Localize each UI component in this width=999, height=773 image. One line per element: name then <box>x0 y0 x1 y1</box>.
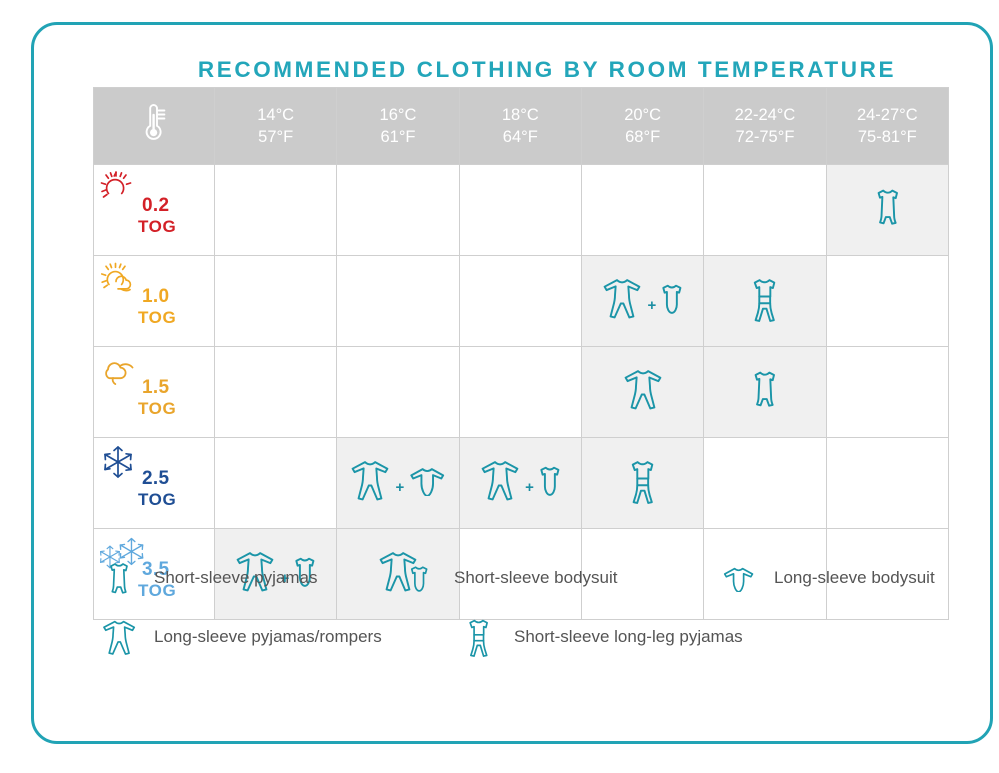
col-fahrenheit: 72-75°F <box>704 126 825 148</box>
garment-combo <box>582 367 703 416</box>
long-sleeve-pyjamas-icon <box>348 458 392 507</box>
garment-combo <box>827 186 948 233</box>
legend-item: Long-sleeve bodysuit <box>712 565 935 592</box>
cell-tog-1.0-col-2[interactable] <box>459 256 581 347</box>
row-header-tog-0.2: 0.2TOG <box>94 165 215 256</box>
table-row: 2.5TOG++ <box>94 438 949 529</box>
guide-card: RECOMMENDED CLOTHING BY ROOM TEMPERATURE… <box>31 22 993 744</box>
clothing-temperature-table: 14°C 57°F 16°C 61°F 18°C 64°F 20°C 68°F … <box>93 87 949 620</box>
tog-value: 1.0 <box>142 286 169 308</box>
tog-unit: TOG <box>138 490 176 510</box>
garment-combo <box>704 368 825 415</box>
plus-symbol: + <box>646 297 657 314</box>
garment-combo <box>582 458 703 509</box>
legend-item: Short-sleeve pyjamas <box>92 560 392 597</box>
short-sleeve-pyjamas-icon <box>751 368 779 415</box>
cell-tog-1.5-col-5[interactable] <box>826 347 948 438</box>
col-celsius: 24-27°C <box>857 106 918 124</box>
cell-tog-1.0-col-5[interactable] <box>826 256 948 347</box>
short-sleeve-pyjamas-icon <box>874 186 902 233</box>
row-header-tog-1.0: 1.0TOG <box>94 256 215 347</box>
tog-value: 1.5 <box>142 377 169 399</box>
cell-tog-1.5-col-2[interactable] <box>459 347 581 438</box>
col-celsius: 16°C <box>380 106 417 124</box>
tog-unit: TOG <box>138 399 176 419</box>
column-header-4: 22-24°C 72-75°F <box>704 88 826 165</box>
cell-tog-0.2-col-1[interactable] <box>337 165 459 256</box>
col-celsius: 18°C <box>502 106 539 124</box>
header-row: 14°C 57°F 16°C 61°F 18°C 64°F 20°C 68°F … <box>94 88 949 165</box>
col-celsius: 22-24°C <box>735 106 796 124</box>
table-body: 0.2TOG1.0TOG+1.5TOG2.5TOG++3.5TOG+ <box>94 165 949 620</box>
cell-tog-2.5-col-5[interactable] <box>826 438 948 529</box>
cell-tog-2.5-col-2[interactable]: + <box>459 438 581 529</box>
table-row: 0.2TOG <box>94 165 949 256</box>
short-sleeve-bodysuit-icon <box>537 464 563 502</box>
cell-tog-1.5-col-0[interactable] <box>215 347 337 438</box>
short-sleeve-long-leg-pyjamas-icon <box>628 458 657 509</box>
thermometer-icon <box>94 88 215 165</box>
legend-label: Long-sleeve pyjamas/rompers <box>146 627 382 647</box>
cell-tog-0.2-col-3[interactable] <box>581 165 703 256</box>
legend-label: Short-sleeve bodysuit <box>446 568 617 588</box>
cell-tog-2.5-col-0[interactable] <box>215 438 337 529</box>
cell-tog-2.5-col-4[interactable] <box>704 438 826 529</box>
col-celsius: 14°C <box>257 106 294 124</box>
col-fahrenheit: 61°F <box>337 126 458 148</box>
sun-icon <box>100 171 134 210</box>
short-sleeve-bodysuit-icon <box>659 282 685 320</box>
cell-tog-2.5-col-1[interactable]: + <box>337 438 459 529</box>
long-sleeve-pyjamas-icon <box>92 618 146 656</box>
long-sleeve-bodysuit-icon <box>407 465 447 501</box>
table-header: 14°C 57°F 16°C 61°F 18°C 64°F 20°C 68°F … <box>94 88 949 165</box>
short-sleeve-bodysuit-icon <box>392 564 446 593</box>
plus-symbol: + <box>524 479 535 496</box>
legend-label: Long-sleeve bodysuit <box>766 568 935 588</box>
column-header-3: 20°C 68°F <box>581 88 703 165</box>
legend-item: Short-sleeve bodysuit <box>392 564 712 593</box>
garment-combo <box>704 276 825 327</box>
tog-value: 0.2 <box>142 195 169 217</box>
legend-item: Long-sleeve pyjamas/rompers <box>92 618 452 656</box>
col-fahrenheit: 64°F <box>460 126 581 148</box>
snowflake-icon <box>100 444 136 485</box>
col-fahrenheit: 68°F <box>582 126 703 148</box>
sun-behind-cloud-icon <box>100 262 140 301</box>
col-fahrenheit: 75-81°F <box>827 126 948 148</box>
cell-tog-1.5-col-4[interactable] <box>704 347 826 438</box>
cell-tog-2.5-col-3[interactable] <box>581 438 703 529</box>
cell-tog-1.0-col-0[interactable] <box>215 256 337 347</box>
long-sleeve-pyjamas-icon <box>621 367 665 416</box>
column-header-1: 16°C 61°F <box>337 88 459 165</box>
garment-combo: + <box>337 458 458 507</box>
col-celsius: 20°C <box>624 106 661 124</box>
cell-tog-1.0-col-3[interactable]: + <box>581 256 703 347</box>
cell-tog-1.0-col-1[interactable] <box>337 256 459 347</box>
legend-row-1: Short-sleeve pyjamasShort-sleeve bodysui… <box>92 560 992 597</box>
cell-tog-1.5-col-3[interactable] <box>581 347 703 438</box>
legend-item: Short-sleeve long-leg pyjamas <box>452 617 743 657</box>
cell-tog-1.0-col-4[interactable] <box>704 256 826 347</box>
long-sleeve-bodysuit-icon <box>712 565 766 592</box>
row-header-tog-2.5: 2.5TOG <box>94 438 215 529</box>
legend-label: Short-sleeve pyjamas <box>146 568 317 588</box>
short-sleeve-pyjamas-icon <box>92 560 146 597</box>
cell-tog-0.2-col-5[interactable] <box>826 165 948 256</box>
legend: Short-sleeve pyjamasShort-sleeve bodysui… <box>92 560 992 677</box>
legend-row-2: Long-sleeve pyjamas/rompersShort-sleeve … <box>92 617 992 657</box>
garment-combo: + <box>582 276 703 325</box>
legend-label: Short-sleeve long-leg pyjamas <box>506 627 743 647</box>
garment-combo: + <box>460 458 581 507</box>
column-header-5: 24-27°C 75-81°F <box>826 88 948 165</box>
col-fahrenheit: 57°F <box>215 126 336 148</box>
table-row: 1.0TOG+ <box>94 256 949 347</box>
column-header-0: 14°C 57°F <box>215 88 337 165</box>
column-header-2: 18°C 64°F <box>459 88 581 165</box>
tog-value: 2.5 <box>142 468 169 490</box>
short-sleeve-long-leg-pyjamas-icon <box>452 617 506 657</box>
tog-unit: TOG <box>138 217 176 237</box>
page-title: RECOMMENDED CLOTHING BY ROOM TEMPERATURE <box>34 57 990 83</box>
cell-tog-0.2-col-2[interactable] <box>459 165 581 256</box>
tog-unit: TOG <box>138 308 176 328</box>
cloud-icon <box>100 353 140 392</box>
table-row: 1.5TOG <box>94 347 949 438</box>
cell-tog-0.2-col-4[interactable] <box>704 165 826 256</box>
short-sleeve-long-leg-pyjamas-icon <box>750 276 779 327</box>
row-header-tog-1.5: 1.5TOG <box>94 347 215 438</box>
plus-symbol: + <box>394 479 405 496</box>
cell-tog-0.2-col-0[interactable] <box>215 165 337 256</box>
long-sleeve-pyjamas-icon <box>478 458 522 507</box>
cell-tog-1.5-col-1[interactable] <box>337 347 459 438</box>
long-sleeve-pyjamas-icon <box>600 276 644 325</box>
